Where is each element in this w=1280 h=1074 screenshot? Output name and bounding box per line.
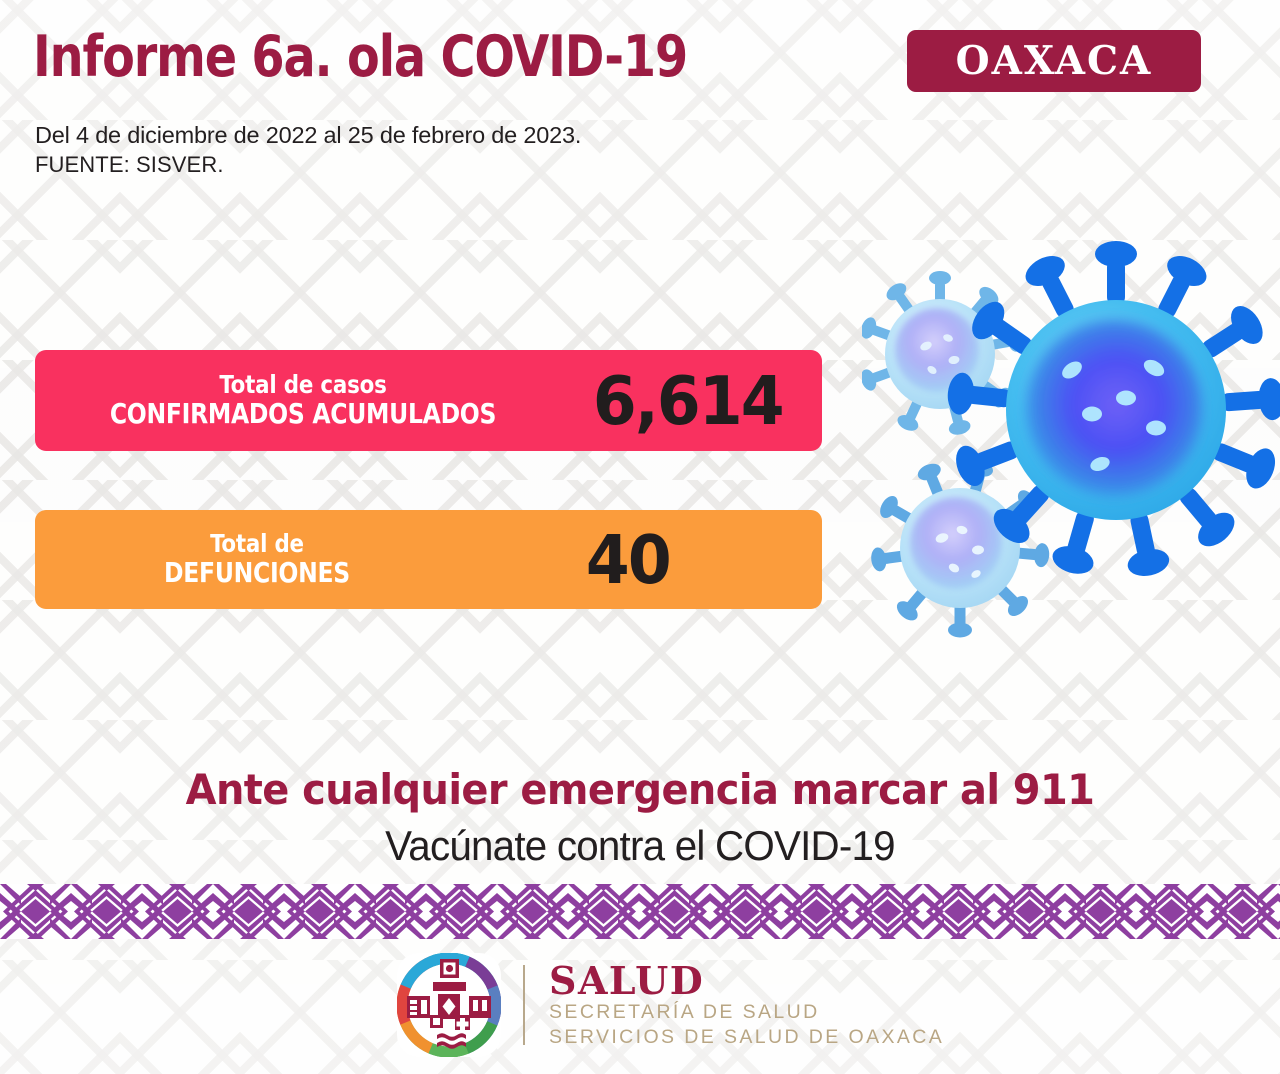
state-badge-label: OAXACA bbox=[956, 38, 1153, 84]
logo-text-block: SALUD SECRETARÍA DE SALUD SERVICIOS DE S… bbox=[549, 960, 944, 1050]
stat-card-defunciones: Total de DEFUNCIONES 40 bbox=[35, 510, 822, 609]
header: Informe 6a. ola COVID-19 OAXACA Del 4 de… bbox=[0, 0, 1280, 190]
infographic-page: Informe 6a. ola COVID-19 OAXACA Del 4 de… bbox=[0, 0, 1280, 1074]
stat-card-casos-confirmados: Total de casos CONFIRMADOS ACUMULADOS 6,… bbox=[35, 350, 822, 451]
footer: SALUD SECRETARÍA DE SALUD SERVICIOS DE S… bbox=[0, 939, 1280, 1074]
brand-subtitle-line1: SECRETARÍA DE SALUD bbox=[549, 1000, 944, 1025]
institution-logo: SALUD SECRETARÍA DE SALUD SERVICIOS DE S… bbox=[397, 953, 944, 1057]
stat-label-casos: Total de casos CONFIRMADOS ACUMULADOS bbox=[56, 371, 550, 430]
virus-particle-small-top bbox=[862, 271, 1024, 437]
stat-label-casos-line2: CONFIRMADOS ACUMULADOS bbox=[56, 399, 550, 430]
state-badge: OAXACA bbox=[907, 30, 1201, 92]
stat-label-casos-line1: Total de casos bbox=[56, 371, 550, 399]
emergency-message: Ante cualquier emergencia marcar al 911 bbox=[32, 765, 1248, 814]
decorative-pattern-band bbox=[0, 884, 1280, 939]
salud-emblem-icon bbox=[397, 953, 501, 1057]
logo-divider bbox=[523, 965, 525, 1045]
date-range-text: Del 4 de diciembre de 2022 al 25 de febr… bbox=[35, 122, 581, 149]
vaccine-message: Vacúnate contra el COVID-19 bbox=[26, 822, 1255, 870]
stat-label-defunciones: Total de DEFUNCIONES bbox=[48, 530, 466, 589]
brand-name: SALUD bbox=[549, 962, 944, 1000]
brand-subtitle-line2: SERVICIOS DE SALUD DE OAXACA bbox=[549, 1025, 944, 1050]
stat-label-defunciones-line2: DEFUNCIONES bbox=[48, 558, 466, 589]
stat-value-defunciones: 40 bbox=[487, 521, 811, 599]
coronavirus-illustration bbox=[862, 226, 1280, 656]
stat-label-defunciones-line1: Total de bbox=[48, 530, 466, 558]
page-title: Informe 6a. ola COVID-19 bbox=[33, 24, 687, 90]
stat-value-casos: 6,614 bbox=[571, 362, 814, 440]
virus-particle-small-bottom bbox=[870, 458, 1051, 637]
data-source-text: FUENTE: SISVER. bbox=[35, 152, 224, 178]
